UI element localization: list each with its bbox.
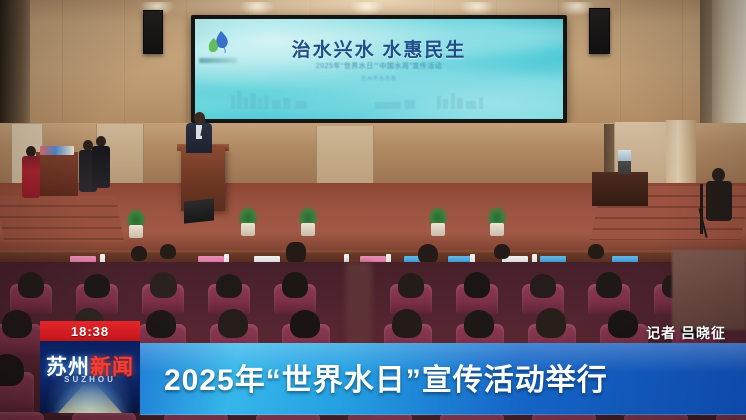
broadcast-frame: 治水兴水 水惠民生 2025年“世界水日”“中国水周”宣传活动 苏州市水务局 [0, 0, 746, 420]
led-screen-title: 治水兴水 水惠民生 [195, 35, 563, 62]
person-body [92, 146, 110, 188]
seated-attendee [418, 244, 438, 264]
audience-person [290, 310, 320, 338]
audience-person [150, 272, 177, 298]
water-dispenser [618, 150, 631, 174]
audience-person [0, 354, 24, 386]
audience-person [398, 273, 424, 298]
headline-text: 2025年“世界水日”宣传活动举行 [164, 355, 608, 399]
plant-pot [431, 223, 445, 236]
audience-person [2, 310, 32, 338]
audience-person [464, 310, 494, 338]
plant-pot [301, 223, 315, 236]
decorative-plant [428, 206, 448, 236]
headline-bar: 2025年“世界水日”宣传活动举行 [140, 343, 746, 415]
skyline-graphic [225, 87, 533, 109]
seated-attendee [286, 242, 306, 264]
time-badge: 18:38 [40, 321, 140, 342]
channel-logo-en: SUZHOU [40, 375, 140, 384]
audience-person [392, 309, 422, 338]
stage-steps-left [0, 196, 124, 242]
staff-person [22, 146, 40, 198]
seated-attendee [588, 244, 604, 259]
presenter [186, 112, 212, 152]
seated-attendee [160, 244, 176, 259]
time-text: 18:38 [71, 324, 109, 339]
led-screen: 治水兴水 水惠民生 2025年“世界水日”“中国水周”宣传活动 苏州市水务局 [195, 19, 563, 119]
led-screen-subtitle-small: 苏州市水务局 [195, 75, 563, 82]
seated-attendee [494, 244, 510, 259]
decorative-plant [298, 206, 318, 236]
audience-person [596, 272, 622, 298]
decorative-plant [487, 206, 507, 236]
person-head [712, 168, 725, 182]
decorative-plant [238, 206, 258, 236]
channel-logo[interactable]: 苏州新闻 SUZHOU [40, 341, 140, 413]
staff-person [92, 136, 110, 188]
audience-person [18, 272, 44, 298]
seat [72, 412, 136, 420]
audience-person [464, 272, 490, 298]
audience-person [146, 310, 176, 338]
wall-speaker-icon [589, 8, 610, 54]
reporter-credit: 记者 吕晓征 [560, 323, 726, 343]
audience-person [530, 274, 556, 298]
seat [0, 412, 44, 420]
led-screen-subtitle: 2025年“世界水日”“中国水周”宣传活动 [195, 61, 563, 71]
decorative-plant [126, 208, 146, 238]
stage-floor-monitor [184, 198, 214, 223]
seated-attendee [131, 246, 147, 261]
audience-person [218, 309, 248, 338]
audience-person [84, 274, 110, 298]
camera-operator [700, 168, 738, 240]
person-body [706, 181, 732, 221]
registration-table [36, 152, 78, 196]
audience-person [282, 272, 308, 298]
plant-pot [490, 223, 504, 236]
right-floor-area [672, 250, 746, 330]
registration-materials [40, 146, 74, 155]
person-body [22, 156, 40, 198]
plant-pot [241, 223, 255, 236]
ceiling-light [460, 2, 494, 16]
wall-speaker-icon [143, 10, 163, 54]
ceiling-light [240, 2, 274, 16]
side-cabinet [592, 172, 648, 206]
plant-pot [129, 225, 143, 238]
ceiling-light [350, 2, 384, 16]
audience-person [216, 274, 242, 298]
